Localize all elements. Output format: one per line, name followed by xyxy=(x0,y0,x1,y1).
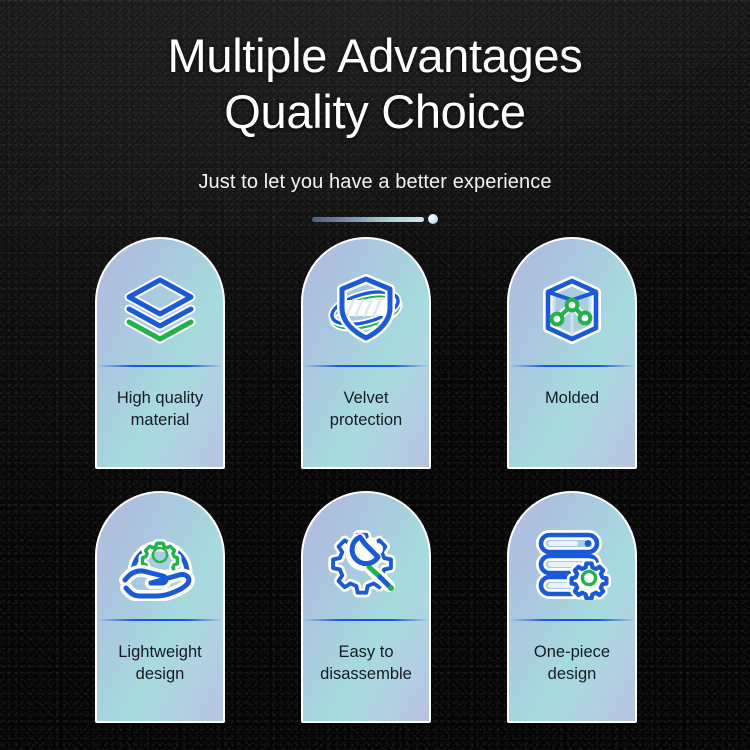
feature-card-label: One-piece design xyxy=(509,621,635,721)
feature-card-label: Velvet protection xyxy=(303,367,429,467)
title-line-1: Multiple Advantages xyxy=(0,28,750,84)
feature-card-molded[interactable]: Molded xyxy=(507,237,637,469)
gear-wrench-icon xyxy=(303,493,429,619)
feature-card-velvet-protection[interactable]: Velvet protection xyxy=(301,237,431,469)
feature-card-grid: High quality material xyxy=(95,237,638,723)
divider-bar xyxy=(312,217,424,222)
header: Multiple Advantages Quality Choice Just … xyxy=(0,0,750,224)
cube-graph-icon xyxy=(509,239,635,365)
feature-card-lightweight-design[interactable]: Lightweight design xyxy=(95,491,225,723)
title-line-2: Quality Choice xyxy=(0,84,750,140)
feature-card-label: Easy to disassemble xyxy=(303,621,429,721)
feature-card-label: High quality material xyxy=(97,367,223,467)
feature-card-one-piece-design[interactable]: One-piece design xyxy=(507,491,637,723)
promo-banner: Multiple Advantages Quality Choice Just … xyxy=(0,0,750,750)
page-subtitle: Just to let you have a better experience xyxy=(0,169,750,195)
section-divider xyxy=(312,214,438,224)
layers-icon xyxy=(97,239,223,365)
page-title: Multiple Advantages Quality Choice xyxy=(0,28,750,140)
shield-orbit-icon xyxy=(303,239,429,365)
feature-card-easy-to-disassemble[interactable]: Easy to disassemble xyxy=(301,491,431,723)
hand-gear-icon xyxy=(97,493,223,619)
feature-card-label: Molded xyxy=(509,367,635,467)
feature-card-high-quality-material[interactable]: High quality material xyxy=(95,237,225,469)
divider-dot-icon xyxy=(428,214,438,224)
server-gear-icon xyxy=(509,493,635,619)
feature-card-label: Lightweight design xyxy=(97,621,223,721)
